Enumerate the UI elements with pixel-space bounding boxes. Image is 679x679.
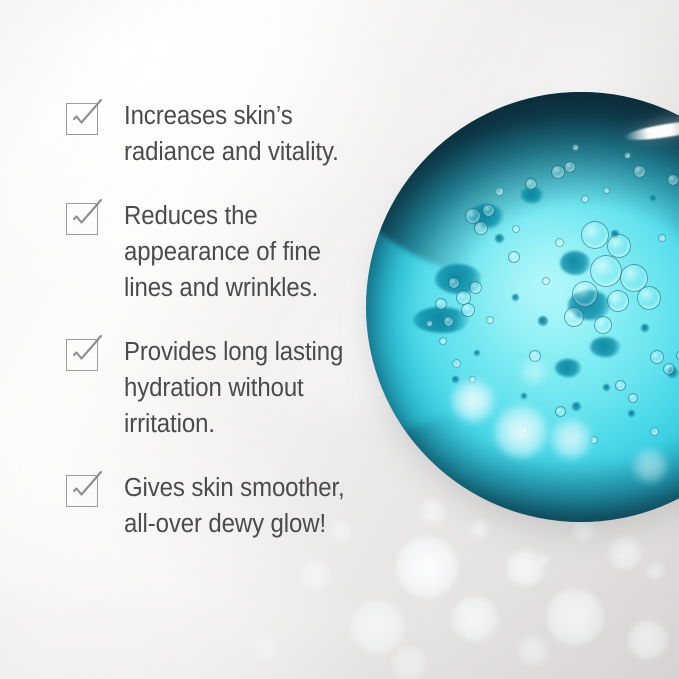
checkbox-checked-icon <box>66 339 98 371</box>
benefit-item-radiance: Increases skin’s radiance and vitality. <box>66 98 366 170</box>
checkbox-checked-icon <box>66 475 98 507</box>
benefit-item-hydration: Provides long lasting hydration without … <box>66 334 366 442</box>
checkmark-glyph <box>62 329 108 375</box>
checkbox-checked-icon <box>66 203 98 235</box>
checkmark-glyph <box>62 193 108 239</box>
checkmark-glyph <box>62 465 108 511</box>
checkbox-checked-icon <box>66 103 98 135</box>
benefit-text: Increases skin’s radiance and vitality. <box>124 98 339 170</box>
benefits-list: Increases skin’s radiance and vitality. … <box>66 98 366 570</box>
benefit-text: Provides long lasting hydration without … <box>124 334 343 442</box>
benefit-text: Gives skin smoother, all-over dewy glow! <box>124 470 345 542</box>
infographic-canvas: Increases skin’s radiance and vitality. … <box>0 0 679 679</box>
checkmark-glyph <box>62 93 108 139</box>
benefit-item-fine-lines: Reduces the appearance of fine lines and… <box>66 198 366 306</box>
benefit-item-dewy-glow: Gives skin smoother, all-over dewy glow! <box>66 470 366 542</box>
benefit-text: Reduces the appearance of fine lines and… <box>124 198 321 306</box>
